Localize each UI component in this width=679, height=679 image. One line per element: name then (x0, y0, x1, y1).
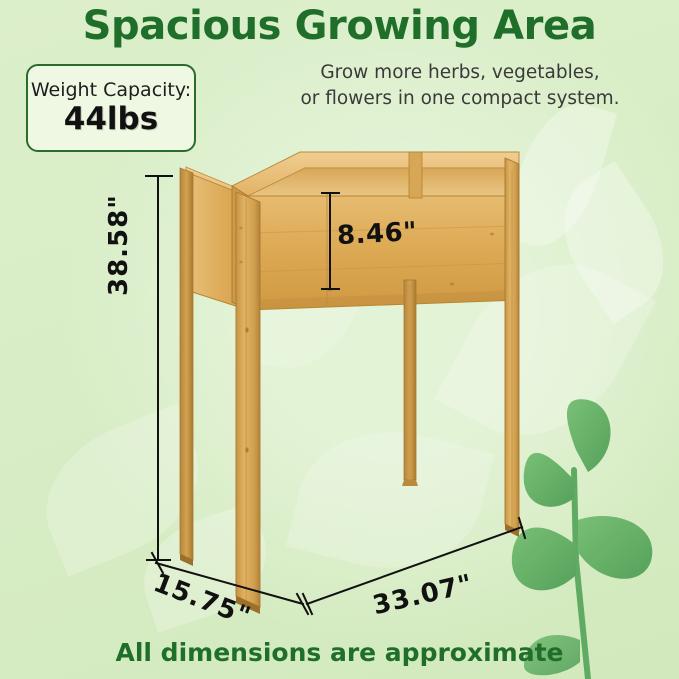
leg-front-right (505, 158, 519, 537)
dimension-label-height: 38.58" (104, 194, 134, 296)
leg-rear-left (180, 168, 193, 566)
subtitle-line-1: Grow more herbs, vegetables, (250, 60, 670, 86)
subtitle-line-2: or flowers in one compact system. (250, 86, 670, 112)
leg-rear-middle (402, 280, 418, 486)
leg-front-left (236, 192, 260, 614)
infographic-canvas: Spacious Growing Area Grow more herbs, v… (0, 0, 679, 679)
subtitle: Grow more herbs, vegetables, or flowers … (250, 60, 670, 113)
weight-capacity-label: Weight Capacity: (31, 80, 191, 101)
dimension-label-depth: 8.46" (336, 217, 418, 251)
footer-note: All dimensions are approximate (0, 638, 679, 667)
weight-capacity-value: 44lbs (64, 103, 158, 136)
dimension-line-height (146, 176, 172, 560)
weight-capacity-badge: Weight Capacity: 44lbs (26, 64, 196, 152)
page-title: Spacious Growing Area (0, 3, 679, 49)
